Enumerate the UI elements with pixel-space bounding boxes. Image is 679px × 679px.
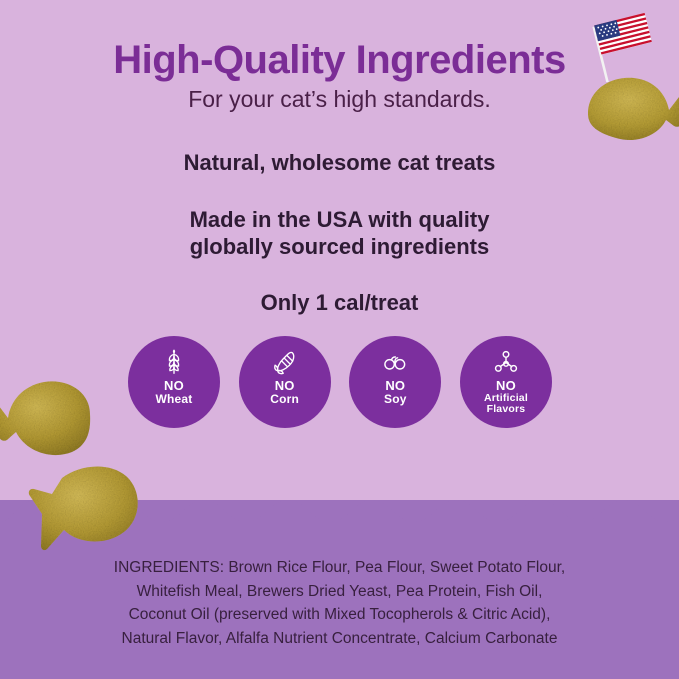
claim-made-in-usa-line2: globally sourced ingredients — [190, 234, 490, 259]
badge-no-wheat-item: Wheat — [156, 393, 193, 406]
molecule-icon — [491, 349, 521, 376]
badge-no-corn-item: Corn — [270, 393, 299, 406]
claim-calories: Only 1 cal/treat — [0, 290, 679, 317]
page-title: High-Quality Ingredients — [0, 38, 679, 83]
badge-no-artificial-flavors-item1: Artificial — [484, 393, 528, 404]
fish-treat-left-lower — [18, 452, 150, 564]
badge-no-soy-label: NO Soy — [384, 379, 407, 405]
badge-no-corn-no: NO — [270, 379, 299, 393]
badge-no-wheat: NO Wheat — [128, 336, 220, 428]
badge-no-wheat-no: NO — [156, 379, 193, 393]
badge-no-artificial-flavors-item2: Flavors — [484, 404, 528, 415]
page-subtitle: For your cat’s high standards. — [0, 86, 679, 113]
badge-no-artificial-flavors-label: NO Artificial Flavors — [484, 379, 528, 415]
claims-list: Natural, wholesome cat treats Made in th… — [0, 150, 679, 317]
badge-no-corn: NO Corn — [239, 336, 331, 428]
claim-made-in-usa: Made in the USA with quality globally so… — [0, 207, 679, 261]
badge-no-artificial-flavors-no: NO — [484, 379, 528, 393]
badge-no-artificial-flavors: NO Artificial Flavors — [460, 336, 552, 428]
ingredients-line-4: Natural Flavor, Alfalfa Nutrient Concent… — [24, 627, 655, 651]
corn-icon — [270, 349, 300, 376]
badge-no-soy-item: Soy — [384, 393, 407, 406]
soybean-icon — [380, 349, 410, 376]
wheat-icon — [159, 349, 189, 376]
ingredients-line-2: Whitefish Meal, Brewers Dried Yeast, Pea… — [24, 580, 655, 604]
ingredients-line-3: Coconut Oil (preserved with Mixed Tocoph… — [24, 603, 655, 627]
ingredients-text: INGREDIENTS: Brown Rice Flour, Pea Flour… — [24, 556, 655, 650]
badge-no-corn-label: NO Corn — [270, 379, 299, 405]
badge-no-wheat-label: NO Wheat — [156, 379, 193, 405]
claim-natural-wholesome: Natural, wholesome cat treats — [0, 150, 679, 177]
no-ingredient-badges: NO Wheat NO Corn — [128, 336, 552, 436]
claim-made-in-usa-line1: Made in the USA with quality — [190, 207, 490, 232]
badge-no-soy-no: NO — [384, 379, 407, 393]
badge-no-soy: NO Soy — [349, 336, 441, 428]
product-infographic: High-Quality Ingredients For your cat’s … — [0, 0, 679, 679]
ingredients-line-1: INGREDIENTS: Brown Rice Flour, Pea Flour… — [24, 556, 655, 580]
